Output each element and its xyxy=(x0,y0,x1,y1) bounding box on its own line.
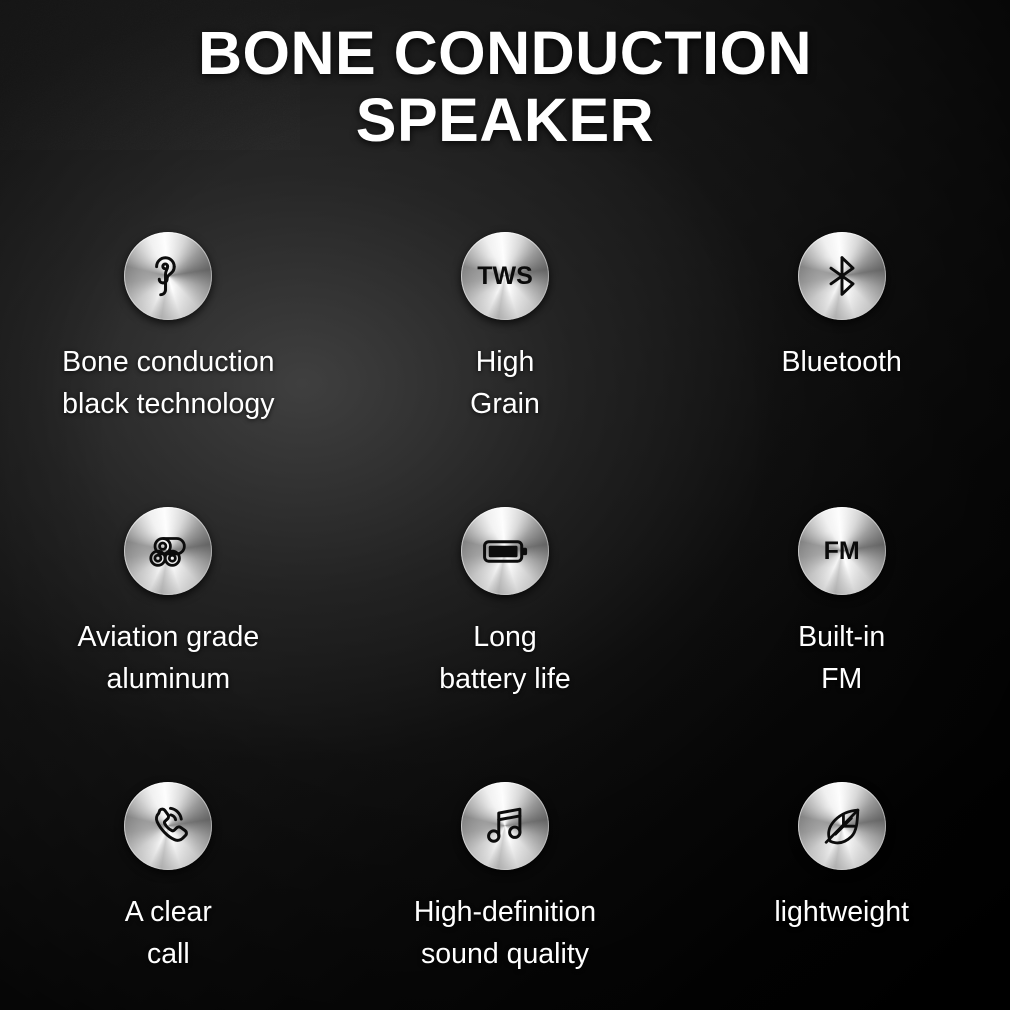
feature-grid: Bone conduction black technology TWS Hig… xyxy=(0,232,1010,1010)
feature-item-hd-sound: High-definition sound quality xyxy=(337,782,674,1010)
feature-label: Long battery life xyxy=(439,617,570,700)
feature-badge: FM xyxy=(798,507,886,595)
title-line-1: BONE CONDUCTION xyxy=(0,20,1010,87)
feature-row: Bone conduction black technology TWS Hig… xyxy=(0,232,1010,507)
feature-item-battery-life: Long battery life xyxy=(337,507,674,782)
bluetooth-icon xyxy=(820,254,864,298)
poster-title: BONE CONDUCTION SPEAKER xyxy=(0,20,1010,154)
feature-row: A clear call High-definition sound quali… xyxy=(0,782,1010,1010)
title-line-2: SPEAKER xyxy=(0,87,1010,154)
feature-label: Built-in FM xyxy=(798,617,885,700)
feature-badge xyxy=(124,507,212,595)
feature-label: Bone conduction black technology xyxy=(62,342,274,425)
feature-item-aviation-aluminum: Aviation grade aluminum xyxy=(0,507,337,782)
feature-badge xyxy=(461,782,549,870)
feature-label: High-definition sound quality xyxy=(414,892,596,975)
feature-badge xyxy=(798,232,886,320)
feature-item-bluetooth: Bluetooth xyxy=(673,232,1010,507)
ear-icon xyxy=(145,253,191,299)
music-note-icon xyxy=(481,802,529,850)
feature-label: lightweight xyxy=(774,892,909,934)
feature-badge xyxy=(798,782,886,870)
feature-label: Aviation grade aluminum xyxy=(77,617,259,700)
battery-full-icon xyxy=(479,525,531,577)
feature-row: Aviation grade aluminum Long battery lif… xyxy=(0,507,1010,782)
phone-call-icon xyxy=(144,802,192,850)
feature-item-bone-conduction: Bone conduction black technology xyxy=(0,232,337,507)
fm-text-icon: FM xyxy=(824,539,860,564)
product-feature-poster: BONE CONDUCTION SPEAKER Bone conduction … xyxy=(0,0,1010,1010)
aluminum-tubes-icon xyxy=(143,526,193,576)
feature-badge xyxy=(124,782,212,870)
feature-item-clear-call: A clear call xyxy=(0,782,337,1010)
feather-icon xyxy=(818,802,866,850)
feature-item-lightweight: lightweight xyxy=(673,782,1010,1010)
feature-badge: TWS xyxy=(461,232,549,320)
feature-badge xyxy=(124,232,212,320)
feature-badge xyxy=(461,507,549,595)
tws-text-icon: TWS xyxy=(477,264,533,289)
feature-label: High Grain xyxy=(470,342,540,425)
feature-label: Bluetooth xyxy=(781,342,901,384)
feature-label: A clear call xyxy=(125,892,212,975)
feature-item-built-in-fm: FM Built-in FM xyxy=(673,507,1010,782)
feature-item-high-grain: TWS High Grain xyxy=(337,232,674,507)
